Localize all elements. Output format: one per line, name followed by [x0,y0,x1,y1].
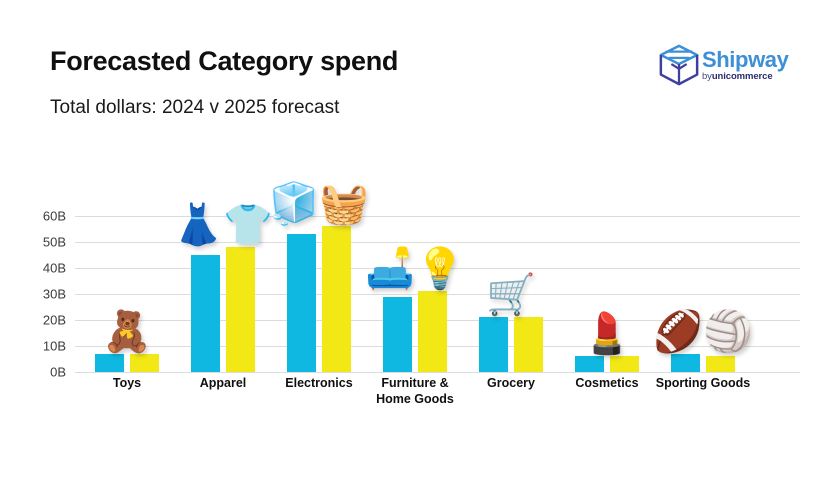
y-axis-tick-label: 0B [6,365,66,380]
bar-group: 👗👕 [188,186,258,372]
bar-pair [572,186,642,372]
bar-group: 💄 [572,186,642,372]
bar-2025-forecast[interactable] [610,356,639,372]
x-axis-category-label: Sporting Goods [642,376,764,392]
y-axis-tick-label: 10B [6,339,66,354]
bar-pair [668,186,738,372]
bar-2025-forecast[interactable] [130,354,159,372]
bar-group: 🛒 [476,186,546,372]
page-title: Forecasted Category spend [50,46,398,77]
y-axis: 0B10B20B30B40B50B60B [0,186,66,372]
bar-group: 🏈🏐 [668,186,738,372]
bar-pair [92,186,162,372]
bar-pair [476,186,546,372]
brand-name: Shipway [702,49,788,71]
gridline [75,372,800,373]
brand-logo: Shipway byunicommerce [658,40,798,90]
bar-group: 🧸 [92,186,162,372]
bar-2024[interactable] [575,356,604,372]
bar-2024[interactable] [671,354,700,372]
page-subtitle: Total dollars: 2024 v 2025 forecast [50,97,339,119]
bar-2024[interactable] [479,317,508,372]
brand-logo-text: Shipway byunicommerce [702,49,788,82]
y-axis-tick-label: 30B [6,287,66,302]
y-axis-tick-label: 40B [6,261,66,276]
bar-2025-forecast[interactable] [706,356,735,372]
bar-group: 🧊🧺 [284,186,354,372]
bar-2024[interactable] [191,255,220,372]
y-axis-tick-label: 60B [6,209,66,224]
bar-2025-forecast[interactable] [322,226,351,372]
y-axis-tick-label: 20B [6,313,66,328]
bar-2024[interactable] [383,297,412,372]
bar-group: 🛋️💡 [380,186,450,372]
y-axis-tick-label: 50B [6,235,66,250]
bar-pair [188,186,258,372]
brand-tagline: byunicommerce [702,72,788,82]
bar-chart: 0B10B20B30B40B50B60B 🧸Toys👗👕Apparel🧊🧺Ele… [0,140,826,440]
bar-2025-forecast[interactable] [418,291,447,372]
shipway-box-logo-icon [658,43,700,87]
chart-header: Forecasted Category spend Total dollars:… [0,0,826,140]
bar-2025-forecast[interactable] [514,317,543,372]
brand-tagline-by: by [702,71,712,82]
brand-tagline-parent: unicommerce [712,71,773,82]
bar-2024[interactable] [287,234,316,372]
bar-pair [284,186,354,372]
bar-2025-forecast[interactable] [226,247,255,372]
bar-2024[interactable] [95,354,124,372]
bar-pair [380,186,450,372]
